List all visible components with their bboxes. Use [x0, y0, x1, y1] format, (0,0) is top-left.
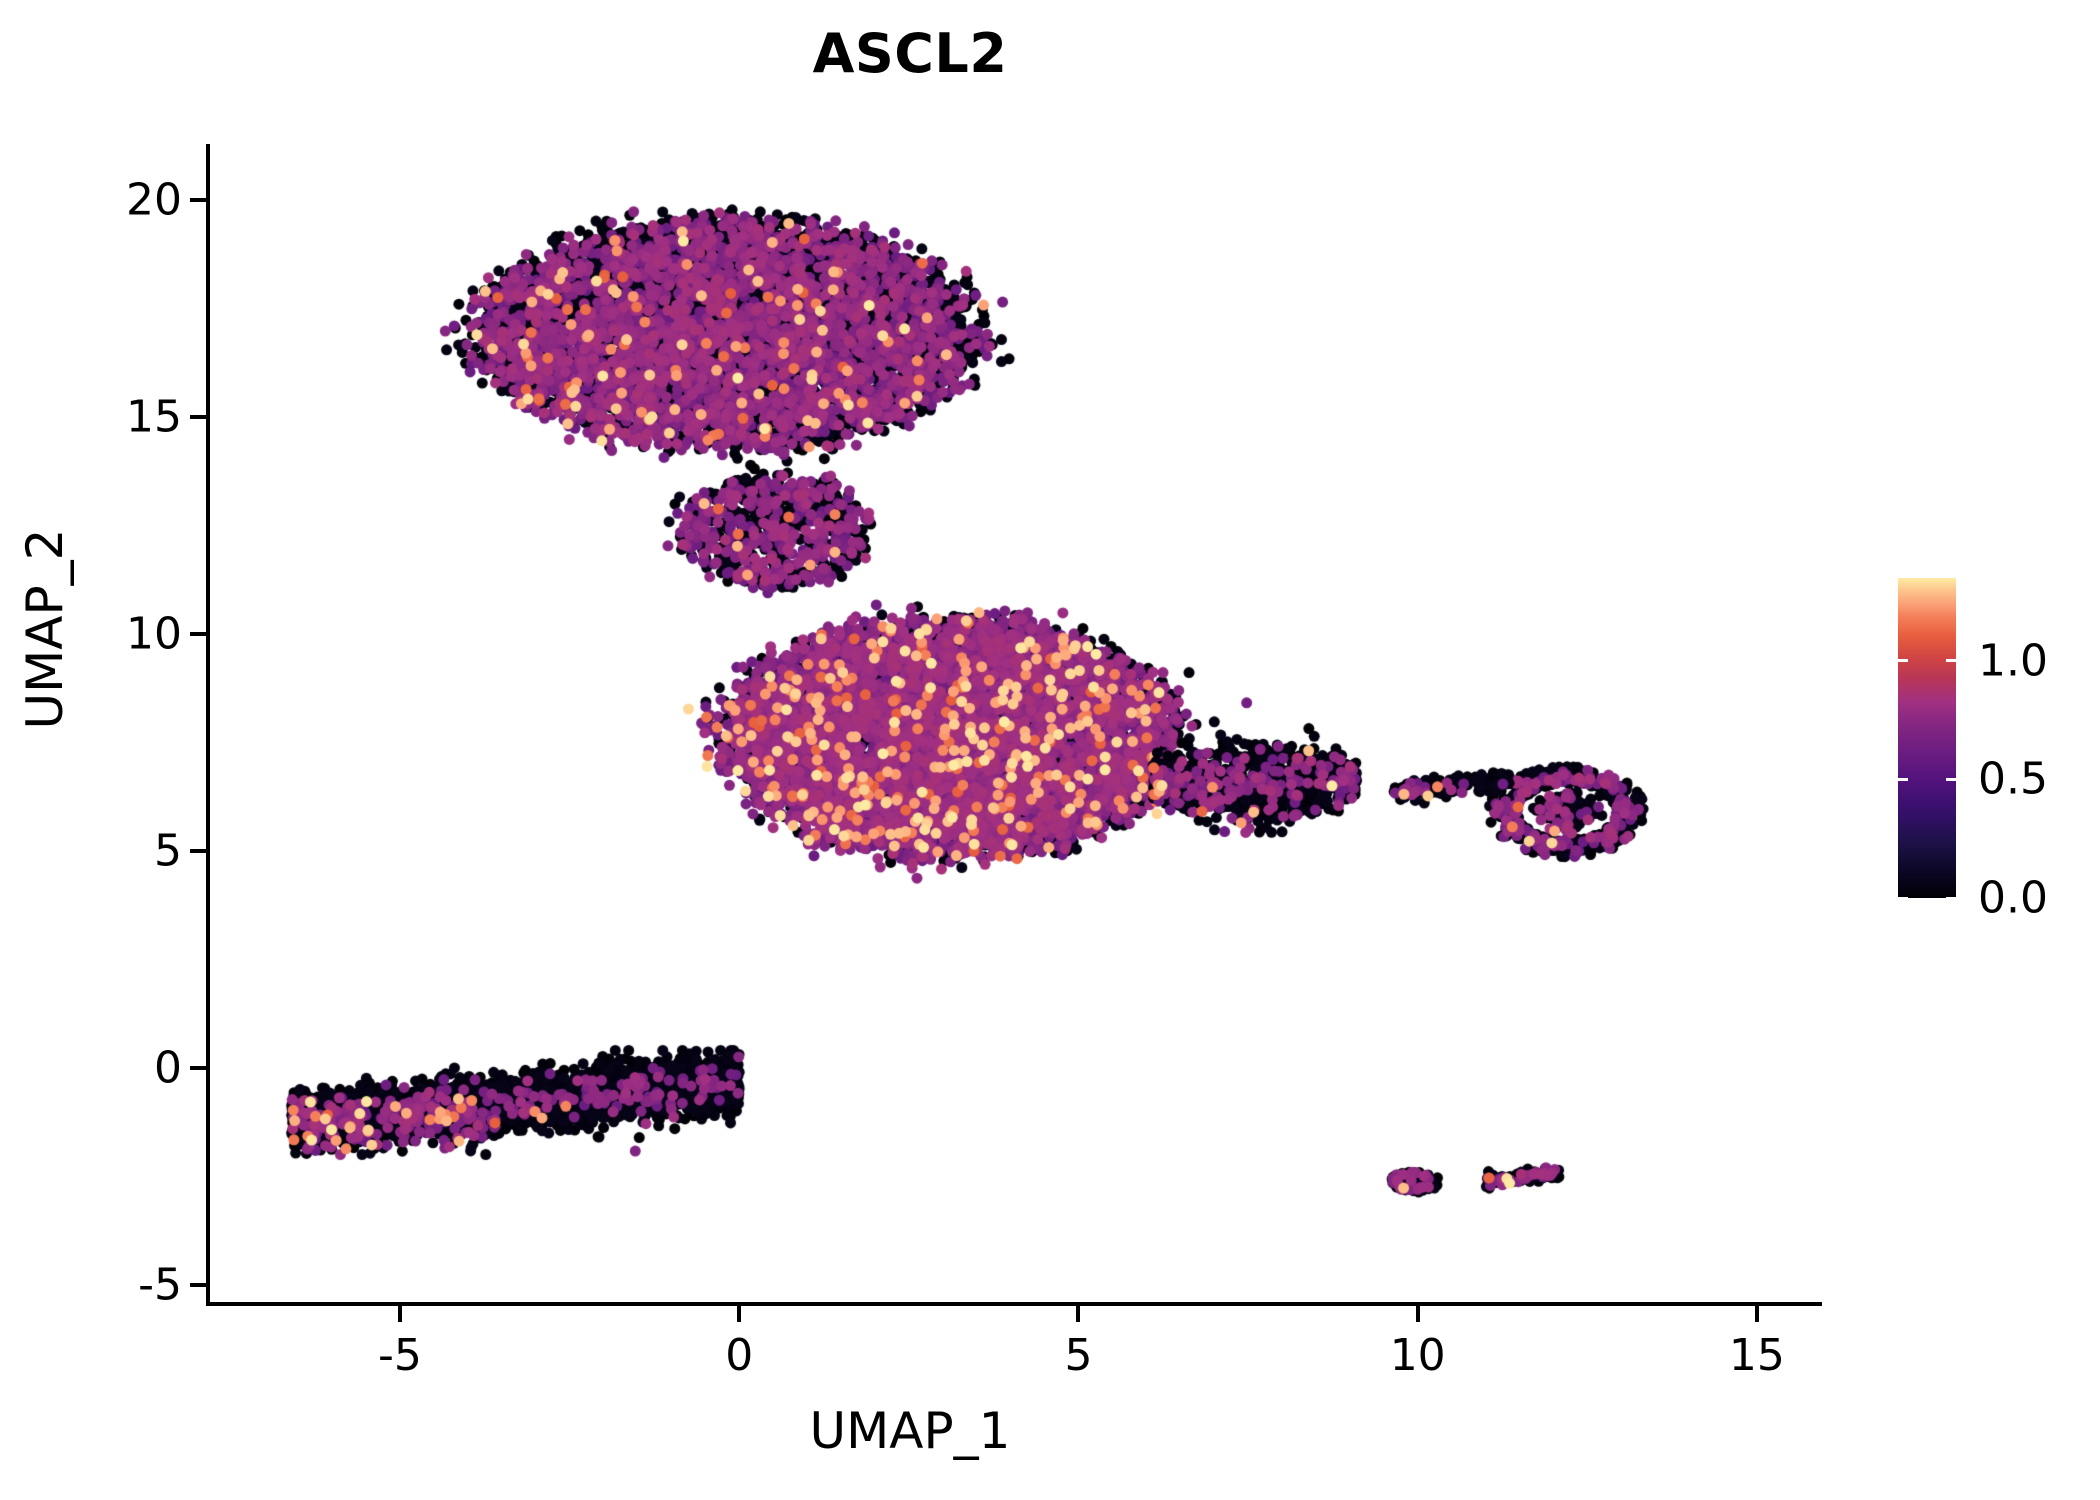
- x-tick-mark: [1416, 1306, 1420, 1322]
- y-tick-label: 5: [154, 825, 182, 876]
- colorbar-tick-mark: [1898, 778, 1908, 781]
- y-tick-mark: [190, 1283, 206, 1287]
- y-tick-mark: [190, 415, 206, 419]
- y-axis-label: UMAP_2: [16, 329, 74, 929]
- x-tick-label: -5: [378, 1330, 422, 1381]
- colorbar-tick-label: 0.5: [1978, 754, 2048, 805]
- x-tick-mark: [398, 1306, 402, 1322]
- y-tick-label: 10: [126, 608, 182, 659]
- plot-area: [210, 148, 1818, 1302]
- colorbar-tick-mark: [1946, 778, 1956, 781]
- x-tick-label: 0: [725, 1330, 753, 1381]
- colorbar-tick-mark: [1946, 897, 1956, 900]
- colorbar-tick-label: 0.0: [1978, 873, 2048, 924]
- figure-root: ASCL2 -505101520 -5051015 UMAP_1 UMAP_2 …: [0, 0, 2100, 1500]
- y-tick-label: 0: [154, 1042, 182, 1093]
- y-tick-mark: [190, 1066, 206, 1070]
- y-tick-label: -5: [138, 1259, 182, 1310]
- y-tick-mark: [190, 849, 206, 853]
- page-title: ASCL2: [0, 22, 1820, 85]
- x-tick-mark: [737, 1306, 741, 1322]
- x-tick-label: 15: [1729, 1330, 1785, 1381]
- x-tick-mark: [1755, 1306, 1759, 1322]
- x-axis-label: UMAP_1: [0, 1402, 1820, 1460]
- scatter-plot-canvas: [210, 148, 1818, 1302]
- y-tick-label: 20: [126, 175, 182, 226]
- y-tick-mark: [190, 198, 206, 202]
- colorbar-gradient: [1898, 578, 1956, 898]
- y-tick-label: 15: [126, 391, 182, 442]
- x-tick-mark: [1076, 1306, 1080, 1322]
- x-tick-label: 10: [1390, 1330, 1446, 1381]
- colorbar-tick-mark: [1898, 659, 1908, 662]
- colorbar-tick-mark: [1898, 897, 1908, 900]
- x-axis-spine: [206, 1302, 1822, 1306]
- y-tick-mark: [190, 632, 206, 636]
- x-tick-label: 5: [1064, 1330, 1092, 1381]
- colorbar-tick-label: 1.0: [1978, 635, 2048, 686]
- colorbar-tick-mark: [1946, 659, 1956, 662]
